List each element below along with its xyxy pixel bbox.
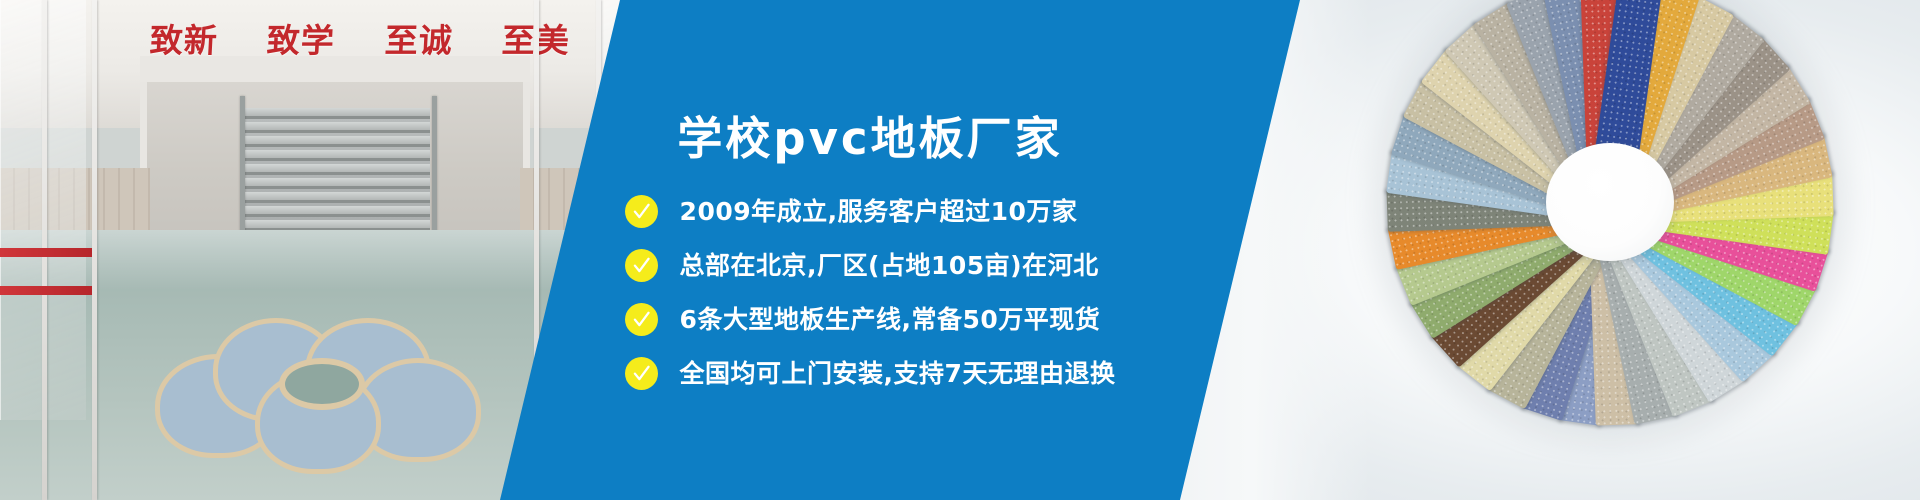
color-sample-fan xyxy=(1330,0,1890,482)
feature-item: 全国均可上门安装,支持7天无理由退换 xyxy=(625,357,1116,390)
stair-handrail xyxy=(240,96,245,242)
promo-banner: 致新 致学 至诚 至美 xyxy=(0,0,1920,500)
stair-step xyxy=(245,150,430,161)
wall-slogan-banner: 致新 致学 至诚 至美 xyxy=(150,14,570,62)
stair-step xyxy=(245,178,430,189)
door-safety-stripe xyxy=(0,248,92,257)
stair-handrail xyxy=(432,96,437,242)
doorway-header-beam xyxy=(140,56,530,82)
wall-slogan-word-2: 致学 xyxy=(266,14,337,62)
door-safety-stripe xyxy=(0,286,92,295)
feature-item: 总部在北京,厂区(占地105亩)在河北 xyxy=(625,249,1116,282)
floor-flower-inlay xyxy=(155,318,485,468)
check-circle-icon xyxy=(625,303,658,336)
banner-content: 学校pvc地板厂家 2009年成立,服务客户超过10万家 总部在北京,厂区(占地… xyxy=(560,0,1180,500)
wall-slogan-word-3: 至诚 xyxy=(383,14,454,62)
stair-step xyxy=(245,122,430,133)
feature-item: 2009年成立,服务客户超过10万家 xyxy=(625,195,1116,228)
wall-slogan-word-1: 致新 xyxy=(149,14,220,62)
feature-list: 2009年成立,服务客户超过10万家 总部在北京,厂区(占地105亩)在河北 6… xyxy=(625,195,1116,390)
feature-label: 全国均可上门安装,支持7天无理由退换 xyxy=(680,360,1116,388)
check-circle-icon xyxy=(625,249,658,282)
banner-headline: 学校pvc地板厂家 xyxy=(677,116,1062,161)
stair-step xyxy=(245,136,430,147)
feature-item: 6条大型地板生产线,常备50万平现货 xyxy=(625,303,1116,336)
glass-door-mullion xyxy=(92,0,97,500)
feature-label: 总部在北京,厂区(占地105亩)在河北 xyxy=(680,252,1099,280)
fan-center-hub xyxy=(1546,143,1674,261)
check-circle-icon xyxy=(625,195,658,228)
stair-step xyxy=(245,192,430,203)
staircase xyxy=(245,108,430,236)
stair-step xyxy=(245,108,430,119)
feature-label: 6条大型地板生产线,常备50万平现货 xyxy=(680,306,1101,334)
stair-step xyxy=(245,206,430,217)
feature-label: 2009年成立,服务客户超过10万家 xyxy=(680,198,1078,226)
check-circle-icon xyxy=(625,357,658,390)
stair-step xyxy=(245,164,430,175)
flower-center xyxy=(279,358,365,410)
